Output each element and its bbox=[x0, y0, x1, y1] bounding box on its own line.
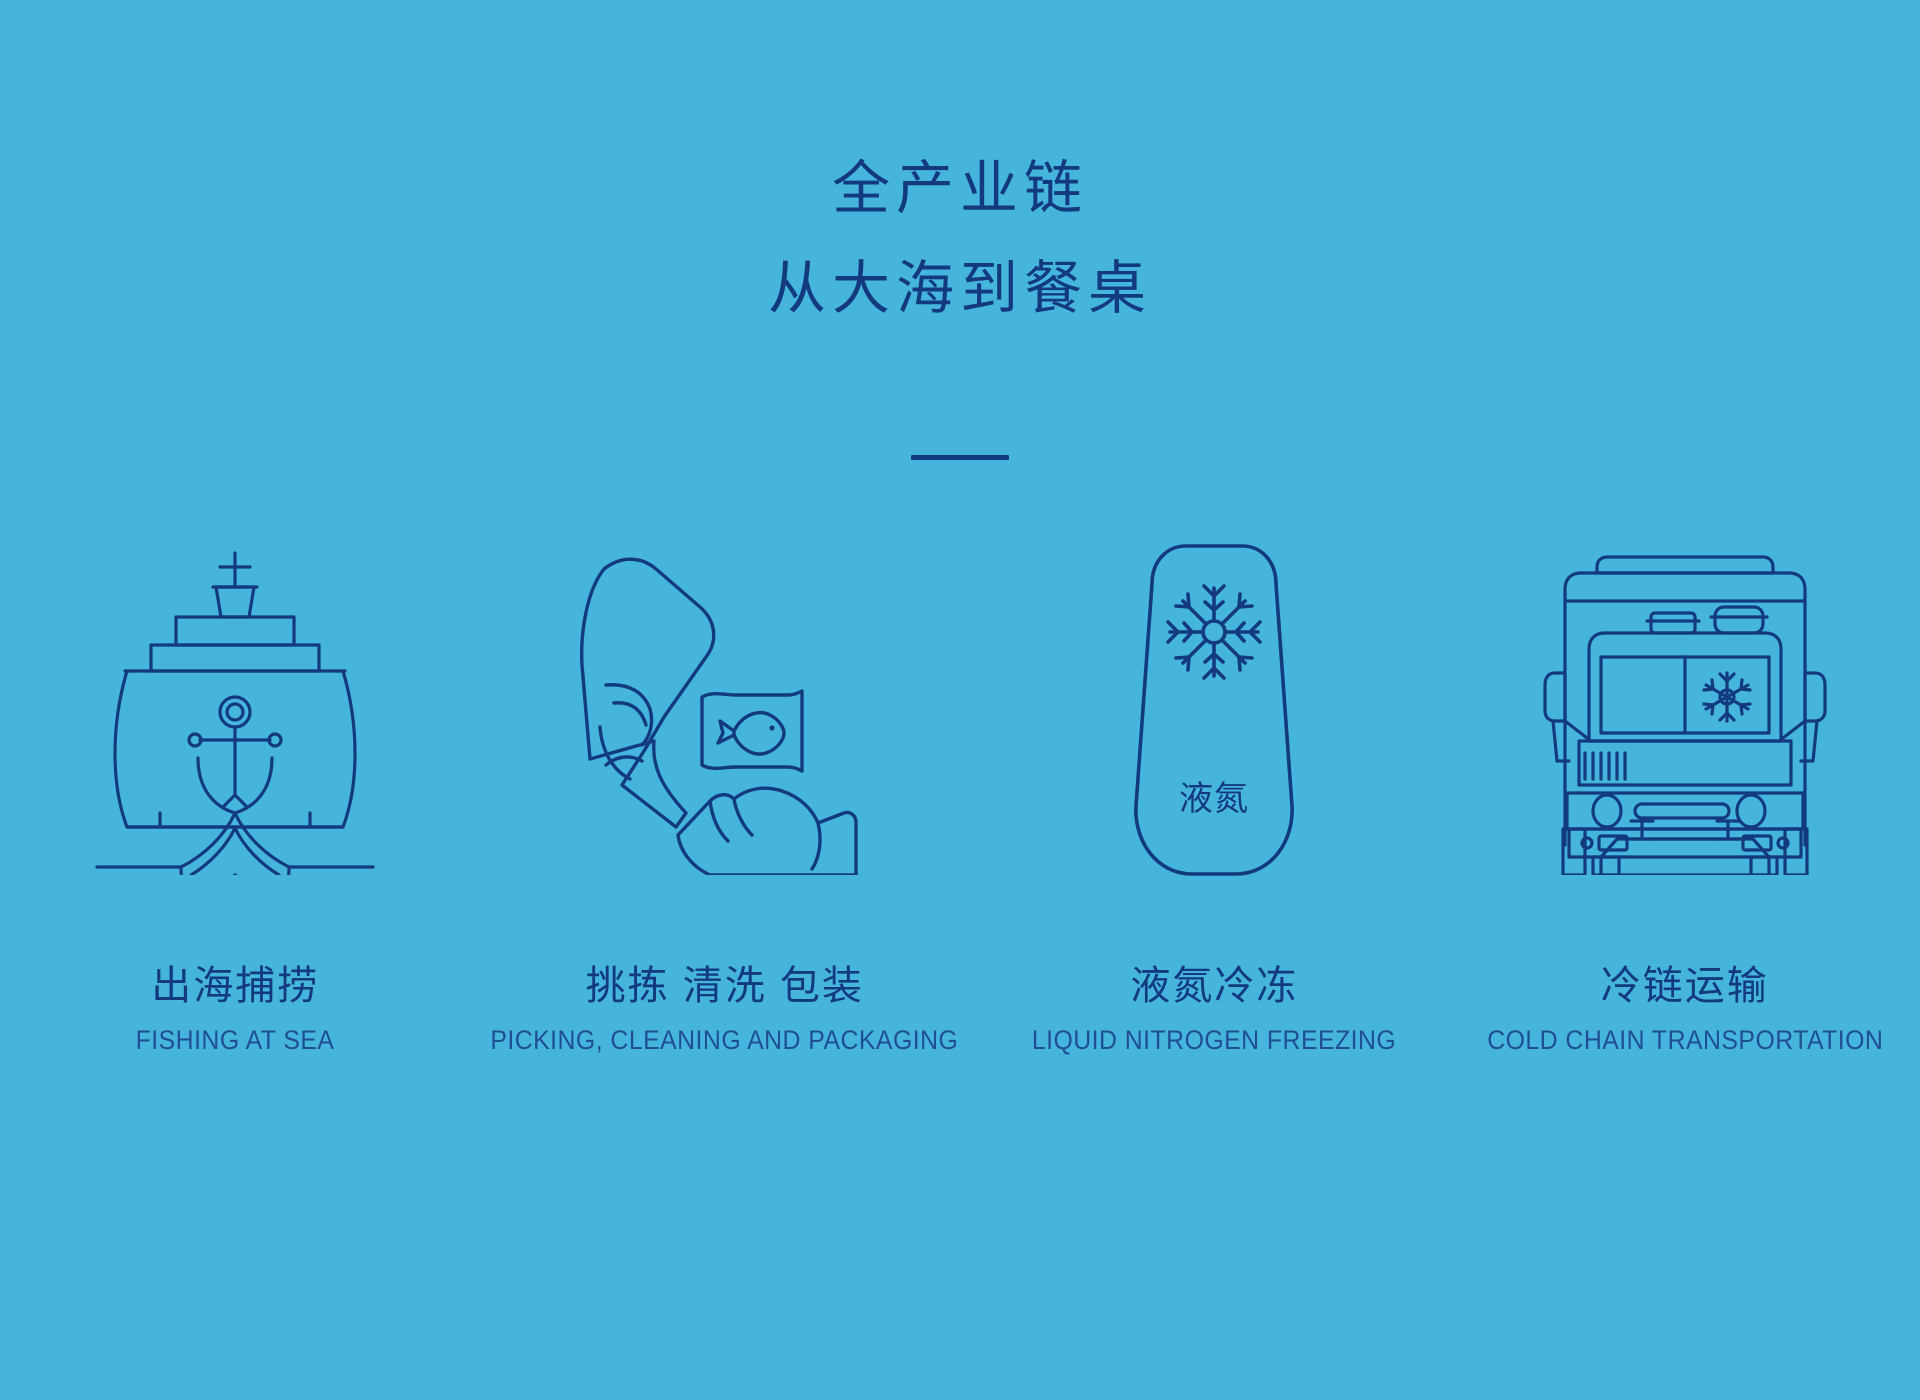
step-labels: 出海捕捞 FISHING AT SEA bbox=[127, 962, 343, 1060]
page-title: 全产业链 从大海到餐桌 bbox=[0, 150, 1920, 328]
step-labels: 液氮冷冻 LIQUID NITROGEN FREEZING bbox=[1016, 962, 1412, 1060]
infographic-page: 全产业链 从大海到餐桌 bbox=[0, 0, 1920, 1400]
title-divider bbox=[911, 455, 1009, 460]
fishing-boat-icon bbox=[0, 520, 470, 900]
title-divider-wrap bbox=[0, 455, 1920, 460]
step-labels: 挑拣 清洗 包装 PICKING, CLEANING AND PACKAGING bbox=[470, 962, 979, 1060]
step-label-en: FISHING AT SEA bbox=[136, 1020, 335, 1060]
tank-label: 液氮 bbox=[1179, 780, 1249, 818]
title-line-1: 全产业链 bbox=[0, 150, 1920, 228]
step-label-en: COLD CHAIN TRANSPORTATION bbox=[1487, 1020, 1883, 1060]
refrigerated-truck-icon bbox=[1450, 520, 1920, 900]
process-steps: 出海捕捞 FISHING AT SEA bbox=[0, 520, 1920, 1060]
liquid-nitrogen-tank-icon: 液氮 bbox=[979, 520, 1449, 900]
step-picking-cleaning-packaging: 挑拣 清洗 包装 PICKING, CLEANING AND PACKAGING bbox=[470, 520, 979, 1060]
step-fishing-at-sea: 出海捕捞 FISHING AT SEA bbox=[0, 520, 470, 1060]
step-liquid-nitrogen-freezing: 液氮 液氮冷冻 LIQUID NITROGEN FREEZING bbox=[979, 520, 1449, 1060]
step-label-cn: 挑拣 清洗 包装 bbox=[470, 962, 979, 1010]
step-cold-chain-transportation: 冷链运输 COLD CHAIN TRANSPORTATION bbox=[1450, 520, 1920, 1060]
hands-fish-package-icon bbox=[470, 520, 979, 900]
step-label-cn: 液氮冷冻 bbox=[1016, 962, 1412, 1010]
step-label-cn: 冷链运输 bbox=[1470, 962, 1901, 1010]
title-line-2: 从大海到餐桌 bbox=[0, 250, 1920, 328]
step-label-en: LIQUID NITROGEN FREEZING bbox=[1032, 1020, 1396, 1060]
step-label-en: PICKING, CLEANING AND PACKAGING bbox=[491, 1020, 959, 1060]
step-label-cn: 出海捕捞 bbox=[127, 962, 343, 1010]
step-labels: 冷链运输 COLD CHAIN TRANSPORTATION bbox=[1470, 962, 1901, 1060]
